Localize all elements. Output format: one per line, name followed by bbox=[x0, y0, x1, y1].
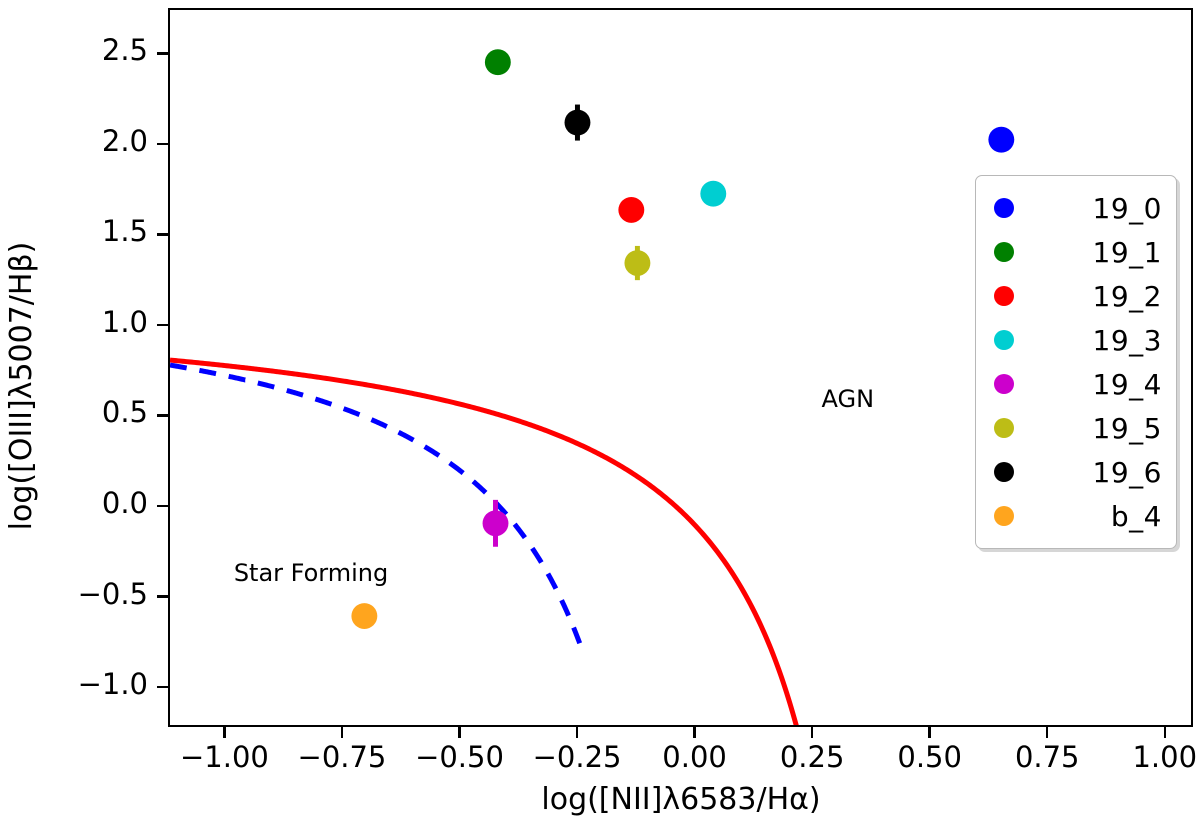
legend-marker-icon bbox=[994, 462, 1014, 482]
legend-item-19_3[interactable]: 19_3 bbox=[976, 318, 1176, 362]
y-tick-label: 2.0 bbox=[0, 124, 148, 158]
data-point-19_0 bbox=[988, 127, 1014, 153]
x-tick-mark bbox=[223, 727, 226, 738]
x-tick-mark bbox=[458, 727, 461, 738]
x-tick-mark bbox=[693, 727, 696, 738]
data-point-19_6 bbox=[565, 105, 591, 141]
y-tick-mark bbox=[157, 595, 168, 598]
y-tick-mark bbox=[157, 324, 168, 327]
x-tick-mark bbox=[341, 727, 344, 738]
marker-19_2 bbox=[618, 197, 644, 223]
legend-item-label: 19_0 bbox=[1014, 192, 1162, 225]
legend-item-label: 19_6 bbox=[1014, 456, 1162, 489]
legend-item-19_6[interactable]: 19_6 bbox=[976, 450, 1176, 494]
data-point-19_3 bbox=[700, 181, 726, 207]
legend-item-19_5[interactable]: 19_5 bbox=[976, 406, 1176, 450]
marker-19_5 bbox=[624, 250, 650, 276]
legend-marker-icon bbox=[994, 418, 1014, 438]
marker-19_3 bbox=[700, 181, 726, 207]
legend-item-label: 19_3 bbox=[1014, 324, 1162, 357]
marker-19_4 bbox=[483, 510, 509, 536]
legend-marker-icon bbox=[994, 286, 1014, 306]
legend-item-b_4[interactable]: b_4 bbox=[976, 494, 1176, 538]
y-tick-mark bbox=[157, 505, 168, 508]
marker-19_0 bbox=[988, 127, 1014, 153]
legend-item-label: 19_1 bbox=[1014, 236, 1162, 269]
legend-item-label: b_4 bbox=[1014, 500, 1162, 533]
legend-item-19_1[interactable]: 19_1 bbox=[976, 230, 1176, 274]
x-tick-mark bbox=[928, 727, 931, 738]
marker-19_1 bbox=[485, 49, 511, 75]
y-tick-mark bbox=[157, 233, 168, 236]
x-tick-mark bbox=[1164, 727, 1167, 738]
y-tick-label: −0.5 bbox=[0, 577, 148, 611]
y-tick-label: 1.0 bbox=[0, 305, 148, 339]
data-point-19_2 bbox=[618, 197, 644, 223]
legend-marker-icon bbox=[994, 330, 1014, 350]
y-tick-mark bbox=[157, 686, 168, 689]
y-tick-label: 0.0 bbox=[0, 486, 148, 520]
marker-19_6 bbox=[565, 110, 591, 136]
legend-item-19_0[interactable]: 19_0 bbox=[976, 186, 1176, 230]
marker-b_4 bbox=[351, 603, 377, 629]
y-tick-mark bbox=[157, 414, 168, 417]
y-tick-label: 1.5 bbox=[0, 214, 148, 248]
x-tick-mark bbox=[811, 727, 814, 738]
y-tick-mark bbox=[157, 52, 168, 55]
y-tick-label: −1.0 bbox=[0, 667, 148, 701]
bpt-diagram-figure: log([OIII]λ5007/Hβ) log([NII]λ6583/Hα) −… bbox=[0, 0, 1200, 830]
annotation-agn: AGN bbox=[822, 385, 875, 413]
annotation-star-forming: Star Forming bbox=[234, 559, 388, 587]
legend-marker-icon bbox=[994, 198, 1014, 218]
x-tick-label: 1.00 bbox=[1090, 740, 1200, 774]
legend-item-label: 19_4 bbox=[1014, 368, 1162, 401]
data-point-19_4 bbox=[483, 500, 509, 547]
x-tick-mark bbox=[1046, 727, 1049, 738]
x-tick-mark bbox=[576, 727, 579, 738]
y-tick-label: 2.5 bbox=[0, 33, 148, 67]
curve-kewley-extreme-starburst bbox=[170, 360, 798, 725]
curve-kauffmann-pure-star-forming bbox=[170, 365, 582, 650]
data-point-b_4 bbox=[351, 603, 377, 629]
legend-marker-icon bbox=[994, 242, 1014, 262]
legend-marker-icon bbox=[994, 374, 1014, 394]
legend-item-label: 19_2 bbox=[1014, 280, 1162, 313]
y-tick-label: 0.5 bbox=[0, 395, 148, 429]
y-tick-mark bbox=[157, 143, 168, 146]
x-axis-label: log([NII]λ6583/Hα) bbox=[168, 782, 1194, 817]
legend-item-19_4[interactable]: 19_4 bbox=[976, 362, 1176, 406]
legend-item-label: 19_5 bbox=[1014, 412, 1162, 445]
legend-marker-icon bbox=[994, 506, 1014, 526]
legend-item-19_2[interactable]: 19_2 bbox=[976, 274, 1176, 318]
data-point-19_1 bbox=[485, 49, 511, 75]
data-point-19_5 bbox=[624, 246, 650, 280]
legend[interactable]: 19_019_119_219_319_419_519_6b_4 bbox=[975, 175, 1177, 549]
